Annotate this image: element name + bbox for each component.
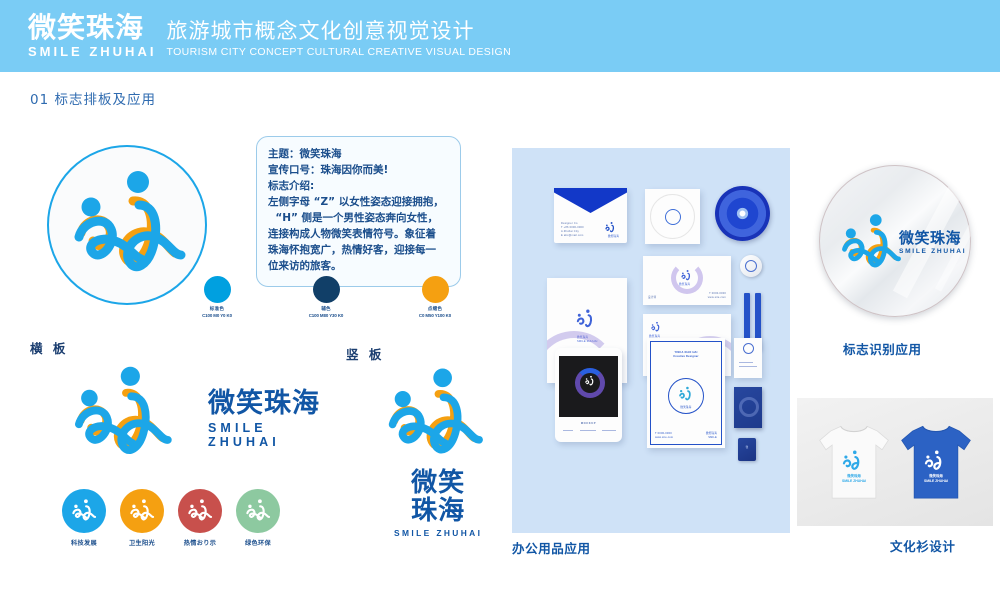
tablet-line bbox=[563, 430, 573, 431]
swatch-name: 辅色 bbox=[297, 306, 355, 312]
swatch-code: C100 M80 Y30 K0 bbox=[297, 313, 355, 318]
poster-heading-line1: YINCA XIAO HAI bbox=[674, 351, 697, 354]
letterhead-logo-icon bbox=[649, 320, 663, 334]
vertical-lockup-wordmark: 微笑 珠海 SMILE ZHUHAI bbox=[394, 470, 482, 538]
envelope-address-text: Designer CoT +86 0000-0000A Zhuhai CityE… bbox=[561, 222, 584, 238]
badge-label: 科技发展 bbox=[62, 538, 106, 547]
section-title: 01 标志排板及应用 bbox=[30, 88, 156, 108]
color-swatch: 点缀色 C0 M50 Y100 K0 bbox=[406, 276, 464, 318]
sleeve-logo-ring bbox=[665, 209, 681, 225]
logo-description-card: 主题：微笑珠海 宣传口号：珠海因你而美! 标志介绍: 左侧字母 “Z” 以女性姿… bbox=[256, 136, 461, 287]
smile-zhuhai-mark-icon bbox=[127, 497, 157, 525]
card-contact-text: T 0000-0000www.site.com bbox=[708, 292, 726, 300]
card-name-text: 设计师 bbox=[648, 296, 656, 300]
usb-logo-caption: 微 bbox=[738, 446, 756, 450]
swatch-dot bbox=[422, 276, 449, 303]
envelope-mockup: Designer CoT +86 0000-0000A Zhuhai CityE… bbox=[554, 188, 627, 243]
swatch-dot bbox=[313, 276, 340, 303]
tablet-line bbox=[580, 430, 596, 431]
brand-name-cn: 微笑珠海 bbox=[28, 13, 156, 42]
badge-dot bbox=[236, 489, 280, 533]
tshirt-white-caption: 微笑珠海SMILE ZHUHAI bbox=[839, 474, 869, 484]
blue-notebook-mockup bbox=[734, 387, 762, 428]
envelope-logo-caption: 微笑珠海 bbox=[608, 235, 619, 239]
header-subtitle-block: 旅游城市概念文化创意视觉设计 TOURISM CITY CONCEPT CULT… bbox=[166, 19, 511, 59]
horizontal-lockup-label: 横 板 bbox=[30, 338, 68, 357]
color-swatch: 辅色 C100 M80 Y30 K0 bbox=[297, 276, 355, 318]
header-subtitle-en: TOURISM CITY CONCEPT CULTURAL CREATIVE V… bbox=[166, 46, 511, 58]
badge-dot bbox=[120, 489, 164, 533]
smile-zhuhai-mark-icon bbox=[360, 360, 510, 472]
swatch-dot bbox=[204, 276, 231, 303]
tshirt-blue-logo-icon bbox=[921, 448, 949, 474]
smile-zhuhai-mark-icon bbox=[243, 497, 273, 525]
lockup-word-en: SMILE ZHUHAI bbox=[208, 421, 340, 449]
application-badges: 科技发展 卫生阳光 bbox=[62, 489, 280, 547]
color-swatch: 标准色 C100 M0 Y0 K0 bbox=[188, 276, 246, 318]
logo-description-text: 主题：微笑珠海 宣传口号：珠海因你而美! 标志介绍: 左侧字母 “Z” 以女性姿… bbox=[268, 147, 449, 275]
primary-logo-badge bbox=[47, 145, 207, 305]
poster-heading-line2: Creative Designer bbox=[673, 355, 698, 358]
brand-logotype: 微笑珠海 SMILE ZHUHAI bbox=[28, 13, 156, 59]
vertical-card-mockup bbox=[734, 338, 762, 378]
logo-identity-caption: 标志识别应用 bbox=[843, 339, 922, 358]
lockup-word-cn: 微笑珠海 bbox=[208, 390, 340, 417]
tshirt-mockup-panel: 微笑珠海SMILE ZHUHAI 微笑珠海SMILE ZHUHAI bbox=[797, 398, 993, 526]
smile-zhuhai-mark-icon bbox=[69, 497, 99, 525]
badge-item: 绿色环保 bbox=[236, 489, 280, 547]
badge-item: 科技发展 bbox=[62, 489, 106, 547]
badge-item: 热情おり示 bbox=[178, 489, 222, 547]
vcard-logo-ring bbox=[743, 343, 754, 354]
usb-mockup: 微 bbox=[738, 438, 756, 461]
badge-label: 卫生阳光 bbox=[120, 538, 164, 547]
brand-name-en: SMILE ZHUHAI bbox=[28, 44, 156, 59]
badge-word-cn: 微笑珠海 bbox=[899, 231, 966, 246]
poster-logo-icon bbox=[676, 384, 696, 404]
badge-word-en: SMILE ZHUHAI bbox=[899, 248, 966, 255]
swatch-code: C100 M0 Y0 K0 bbox=[188, 313, 246, 318]
smile-zhuhai-mark-icon bbox=[185, 497, 215, 525]
tshirt-design-caption: 文化衫设计 bbox=[890, 536, 956, 555]
swatch-name: 点缀色 bbox=[406, 306, 464, 312]
badge-label: 绿色环保 bbox=[236, 538, 280, 547]
badge-dot bbox=[178, 489, 222, 533]
header-brand-block: 微笑珠海 SMILE ZHUHAI 旅游城市概念文化创意视觉设计 TOURISM… bbox=[0, 13, 511, 59]
tablet-line bbox=[602, 430, 616, 431]
folder-logo-icon bbox=[573, 306, 599, 332]
lockup-word-cn-line2: 珠海 bbox=[394, 498, 482, 526]
lockup-wordmark: 微笑珠海 SMILE ZHUHAI bbox=[208, 390, 340, 449]
swatch-name: 标准色 bbox=[188, 306, 246, 312]
badge-label: 热情おり示 bbox=[178, 538, 222, 547]
poster-mockup: YINCA XIAO HAI Creative Designer 微笑珠海 T … bbox=[647, 338, 725, 448]
lockup-word-cn-line1: 微笑 bbox=[394, 470, 482, 498]
tablet-mockup: MOCKUP bbox=[555, 348, 622, 442]
badge-dot bbox=[62, 489, 106, 533]
poster-heading: YINCA XIAO HAI Creative Designer bbox=[647, 351, 725, 359]
logo-identity-badge-mockup: 微笑珠海 SMILE ZHUHAI bbox=[819, 165, 971, 317]
vertical-lockup: 微笑 珠海 SMILE ZHUHAI bbox=[352, 360, 507, 550]
horizontal-lockup: 微笑珠海 SMILE ZHUHAI bbox=[40, 358, 340, 473]
badge-wordmark: 微笑珠海 SMILE ZHUHAI bbox=[899, 231, 966, 255]
card-brand-caption: 微笑珠海 bbox=[679, 283, 690, 287]
poster-footer-text: 微笑珠海SMILE bbox=[706, 432, 717, 440]
cd-sleeve-mockup bbox=[645, 189, 700, 244]
tshirt-blue-caption: 微笑珠海SMILE ZHUHAI bbox=[921, 474, 951, 484]
tablet-logo-icon bbox=[583, 374, 597, 388]
badge-item: 卫生阳光 bbox=[120, 489, 164, 547]
business-card-mockup: 微笑珠海 设计师 T 0000-0000www.site.com bbox=[643, 256, 731, 305]
tablet-screen bbox=[559, 356, 618, 417]
poster-contact-text: T 0000-0000www.site.com bbox=[655, 432, 673, 440]
header-subtitle-cn: 旅游城市概念文化创意视觉设计 bbox=[166, 19, 511, 43]
lockup-word-en: SMILE ZHUHAI bbox=[394, 528, 482, 538]
tshirt-white-logo-icon bbox=[839, 448, 867, 474]
page-header: 微笑珠海 SMILE ZHUHAI 旅游城市概念文化创意视觉设计 TOURISM… bbox=[0, 0, 1000, 72]
smile-zhuhai-mark-icon bbox=[59, 161, 199, 293]
poster-brand-caption: 微笑珠海 bbox=[647, 406, 725, 410]
vcard-line bbox=[739, 366, 757, 367]
notebook-swirl-graphic bbox=[739, 397, 759, 417]
card-logo-icon bbox=[679, 268, 694, 283]
tablet-caption: MOCKUP bbox=[555, 422, 622, 426]
pin-logo-ring bbox=[745, 260, 757, 272]
vcard-line bbox=[739, 362, 753, 363]
pin-button-mockup bbox=[740, 255, 762, 277]
office-supplies-caption: 办公用品应用 bbox=[512, 538, 591, 557]
smile-zhuhai-mark-icon bbox=[40, 358, 205, 473]
swatch-code: C0 M50 Y100 K0 bbox=[406, 313, 464, 318]
envelope-flap bbox=[554, 188, 627, 213]
stationery-mockup-panel: Designer CoT +86 0000-0000A Zhuhai CityE… bbox=[512, 148, 790, 533]
envelope-logo-icon bbox=[603, 220, 618, 235]
cd-disc-mockup bbox=[715, 186, 770, 241]
